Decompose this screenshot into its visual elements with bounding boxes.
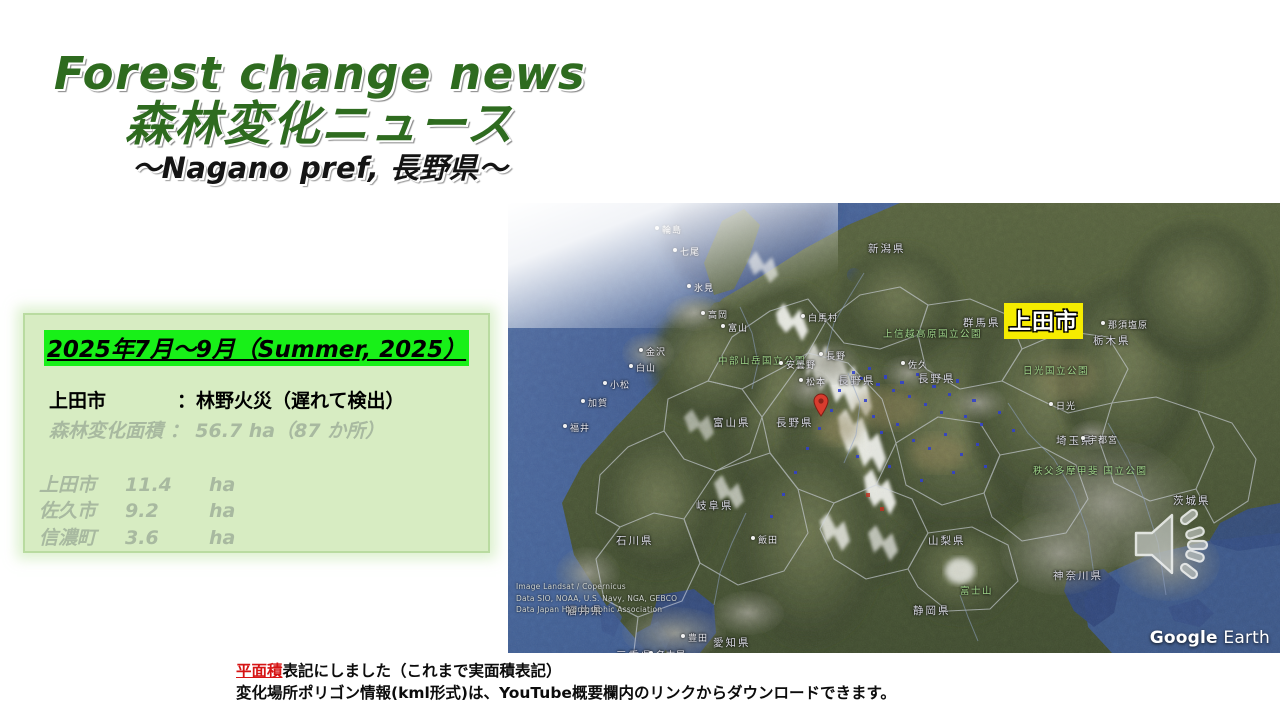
map-national-park-label: 上信越高原国立公園 [883, 326, 982, 340]
map-city-label: 白馬村 [808, 311, 838, 324]
caption-line-1-rest: 表記にしました（これまで実面積表記） [283, 662, 562, 680]
map-prefecture-label: 静岡県 [913, 603, 951, 618]
map-city-label: 那須塩原 [1108, 318, 1148, 331]
map-city-label: 名古屋 [656, 648, 686, 653]
google-earth-logo: Google Earth [1150, 628, 1270, 648]
map-city-label: 高岡 [708, 308, 728, 321]
caption-line-1: 平面積表記にしました（これまで実面積表記） [236, 660, 896, 682]
info-box-primary-row: 上田市：林野火災（遅れて検出） [39, 386, 474, 413]
map-city-marker-dot [1101, 321, 1105, 325]
municipality-area-unit: ha [209, 499, 249, 525]
speaker-volume-icon[interactable] [1130, 507, 1218, 581]
map-city-label: 氷見 [694, 281, 714, 294]
map-city-label: 輪島 [662, 223, 682, 236]
map-city-label: 白山 [636, 361, 656, 374]
municipality-area-value: 3.6 [125, 526, 209, 552]
map-city-marker-dot [629, 364, 633, 368]
map-city-marker-dot [799, 378, 803, 382]
info-box-heading-row: 2025年7月～9月（Summer, 2025） [39, 330, 474, 366]
map-city-marker-dot [639, 348, 643, 352]
summary-info-box: 2025年7月～9月（Summer, 2025） 上田市：林野火災（遅れて検出）… [23, 313, 490, 553]
table-row: 佐久市9.2ha [39, 499, 249, 525]
map-city-marker-dot [1081, 436, 1085, 440]
municipality-name: 信濃町 [39, 526, 125, 552]
map-city-marker-dot [901, 361, 905, 365]
map-prefecture-label: 愛知県 [713, 635, 751, 650]
map-city-label: 加賀 [588, 396, 608, 409]
map-prefecture-label: 長野県 [918, 371, 956, 386]
municipality-area-value: 11.4 [125, 473, 209, 499]
map-city-marker-dot [721, 324, 725, 328]
municipality-area-value: 9.2 [125, 499, 209, 525]
map-prefecture-label: 石川県 [616, 533, 654, 548]
caption-highlight: 平面積 [236, 662, 283, 680]
map-city-label: 松本 [806, 375, 826, 388]
attribution-line-3: Data Japan Hydrographic Association [516, 604, 677, 615]
map-city-label: 富山 [728, 321, 748, 334]
footer-caption: 平面積表記にしました（これまで実面積表記） 変化場所ポリゴン情報(kml形式)は… [236, 660, 896, 704]
map-city-label: 長野 [826, 349, 846, 362]
page-title: Forest change news 森林変化ニュース ～Nagano pref… [0, 50, 640, 185]
map-city-label: 金沢 [646, 345, 666, 358]
map-city-marker-dot [655, 226, 659, 230]
map-callout-ueda: 上田市 [1004, 303, 1083, 339]
map-city-label: 福井 [570, 421, 590, 434]
map-city-marker-dot [603, 381, 607, 385]
info-box-summary-row: 森林変化面積 ： 56.7 ha（87 か所） [39, 416, 474, 443]
map-city-marker-dot [673, 248, 677, 252]
summary-row-separator: ： [170, 420, 189, 442]
map-attribution: Image Landsat / Copernicus Data SIO, NOA… [516, 581, 677, 615]
table-row: 上田市11.4ha [39, 473, 249, 499]
primary-row-label: 上田市 [49, 386, 177, 413]
summary-row-label: 森林変化面積 [49, 420, 163, 442]
municipality-area-table: 上田市11.4ha佐久市9.2ha信濃町3.6ha [39, 473, 249, 552]
map-city-marker-dot [687, 284, 691, 288]
map-city-marker-dot [819, 352, 823, 356]
map-national-park-label: 富士山 [960, 583, 993, 597]
map-city-marker-dot [701, 311, 705, 315]
map-prefecture-label: 長野県 [838, 373, 876, 388]
map-city-marker-dot [779, 361, 783, 365]
map-city-marker-dot [563, 424, 567, 428]
map-prefecture-label: 神奈川県 [1053, 568, 1103, 583]
attribution-line-2: Data SIO, NOAA, U.S. Navy, NGA, GEBCO [516, 593, 677, 604]
attribution-line-1: Image Landsat / Copernicus [516, 581, 677, 592]
map-city-label: 佐久 [908, 358, 928, 371]
google-earth-logo-word2: Earth [1223, 628, 1270, 648]
map-national-park-label: 秩父多摩甲斐 国立公園 [1033, 463, 1148, 477]
google-earth-logo-word1: Google [1150, 628, 1218, 648]
map-city-marker-dot [681, 634, 685, 638]
map-callout-label: 上田市 [1009, 310, 1078, 335]
map-city-marker-dot [649, 651, 653, 653]
google-earth-map[interactable]: 石川県富山県長野県長野県長野県岐阜県新潟県群馬県栃木県茨城県埼玉県山梨県静岡県愛… [508, 203, 1280, 653]
map-prefecture-label: 山梨県 [928, 533, 966, 548]
map-prefecture-label: 富山県 [713, 415, 751, 430]
map-prefecture-label: 三重県 [616, 648, 654, 653]
map-city-label: 小松 [610, 378, 630, 391]
map-city-marker-dot [581, 399, 585, 403]
slide-root: 石川県富山県長野県長野県長野県岐阜県新潟県群馬県栃木県茨城県埼玉県山梨県静岡県愛… [0, 0, 1280, 720]
summary-row-value: 56.7 ha（87 か所） [195, 420, 384, 442]
map-city-marker-dot [801, 314, 805, 318]
map-prefecture-label: 岐阜県 [696, 498, 734, 513]
municipality-name: 上田市 [39, 473, 125, 499]
map-prefecture-label: 栃木県 [1093, 333, 1131, 348]
table-row: 信濃町3.6ha [39, 526, 249, 552]
map-city-label: 豊田 [688, 631, 708, 644]
title-line-english: Forest change news [0, 50, 640, 97]
primary-row-separator: ： [177, 390, 196, 412]
municipality-area-table-body: 上田市11.4ha佐久市9.2ha信濃町3.6ha [39, 473, 249, 552]
primary-row-value: 林野火災（遅れて検出） [196, 390, 404, 412]
municipality-name: 佐久市 [39, 499, 125, 525]
map-national-park-label: 日光国立公園 [1023, 363, 1089, 377]
municipality-area-unit: ha [209, 473, 249, 499]
location-pin-icon [813, 393, 829, 417]
title-line-japanese: 森林変化ニュース [0, 99, 640, 151]
map-city-label: 飯田 [758, 533, 778, 546]
map-city-label: 日光 [1056, 399, 1076, 412]
title-subtitle: ～Nagano pref, 長野県～ [0, 152, 640, 185]
map-prefecture-label: 新潟県 [868, 241, 906, 256]
map-city-marker-dot [1049, 402, 1053, 406]
info-box-heading: 2025年7月～9月（Summer, 2025） [44, 330, 469, 366]
map-city-label: 七尾 [680, 245, 700, 258]
map-prefecture-label: 長野県 [776, 415, 814, 430]
caption-line-2: 変化場所ポリゴン情報(kml形式)は、YouTube概要欄内のリンクからダウンロ… [236, 682, 896, 704]
map-city-label: 安曇野 [786, 358, 816, 371]
map-city-marker-dot [751, 536, 755, 540]
map-city-label: 宇都宮 [1088, 433, 1118, 446]
municipality-area-unit: ha [209, 526, 249, 552]
map-prefecture-label: 茨城県 [1173, 493, 1211, 508]
